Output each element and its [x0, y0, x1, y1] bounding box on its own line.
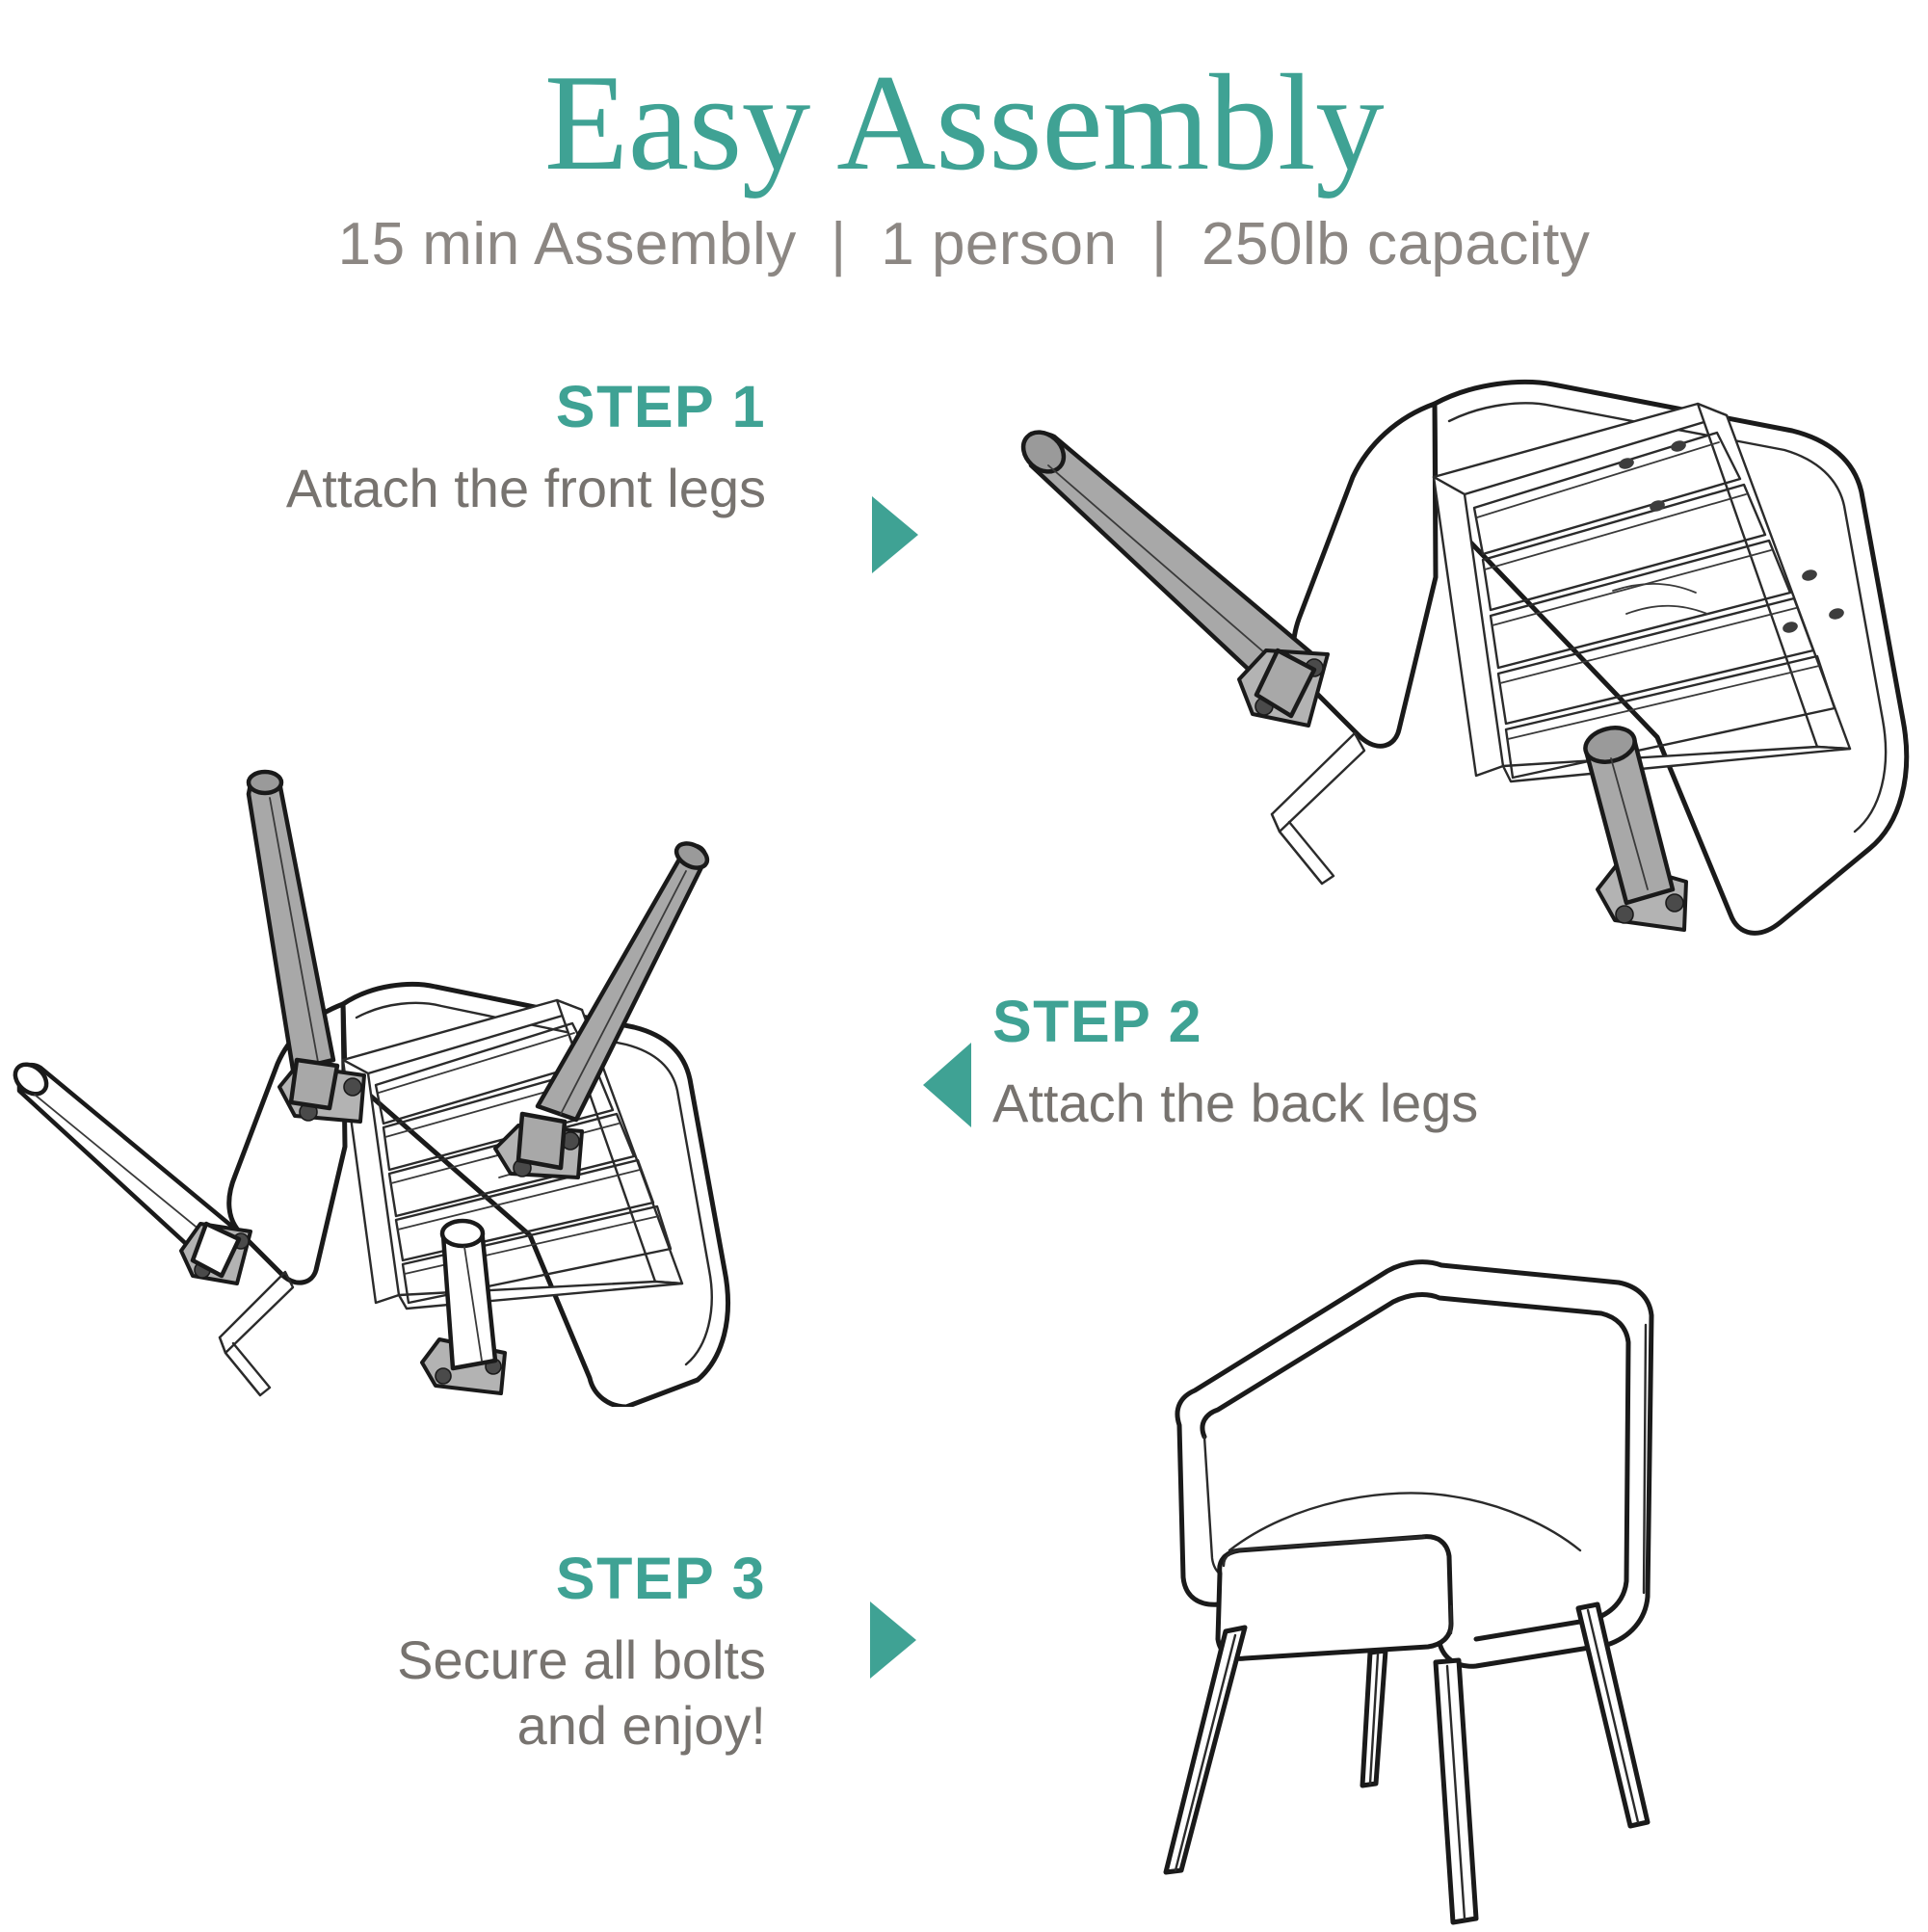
- assembled-chair-illustration: [1098, 1219, 1888, 1932]
- step-1-text-block: STEP 1 Attach the front legs: [135, 378, 766, 521]
- page-subtitle: 15 min Assembly | 1 person | 250lb capac…: [0, 195, 1928, 278]
- chair-upside-down-back-legs-illustration: [0, 742, 780, 1407]
- page-title: Easy Assembly: [0, 0, 1928, 195]
- step-2-label: STEP 2: [992, 992, 1628, 1051]
- front-left-leg: [1016, 424, 1328, 726]
- triangle-left-icon: [923, 1043, 971, 1127]
- step-1-label: STEP 1: [135, 378, 766, 437]
- header: Easy Assembly 15 min Assembly | 1 person…: [0, 0, 1928, 278]
- step-3-text-block: STEP 3 Secure all bolts and enjoy!: [241, 1549, 766, 1760]
- triangle-right-icon: [870, 1601, 916, 1679]
- step-2-description: Attach the back legs: [992, 1051, 1628, 1136]
- front-left-leg-unattached: [10, 1058, 251, 1284]
- step-2-text-block: STEP 2 Attach the back legs: [992, 992, 1628, 1136]
- step-1-description: Attach the front legs: [135, 437, 766, 521]
- triangle-right-icon: [872, 496, 918, 573]
- chair-upside-down-front-legs-illustration: [983, 361, 1927, 959]
- step-3-label: STEP 3: [241, 1549, 766, 1608]
- step-3-description: Secure all bolts and enjoy!: [241, 1608, 766, 1760]
